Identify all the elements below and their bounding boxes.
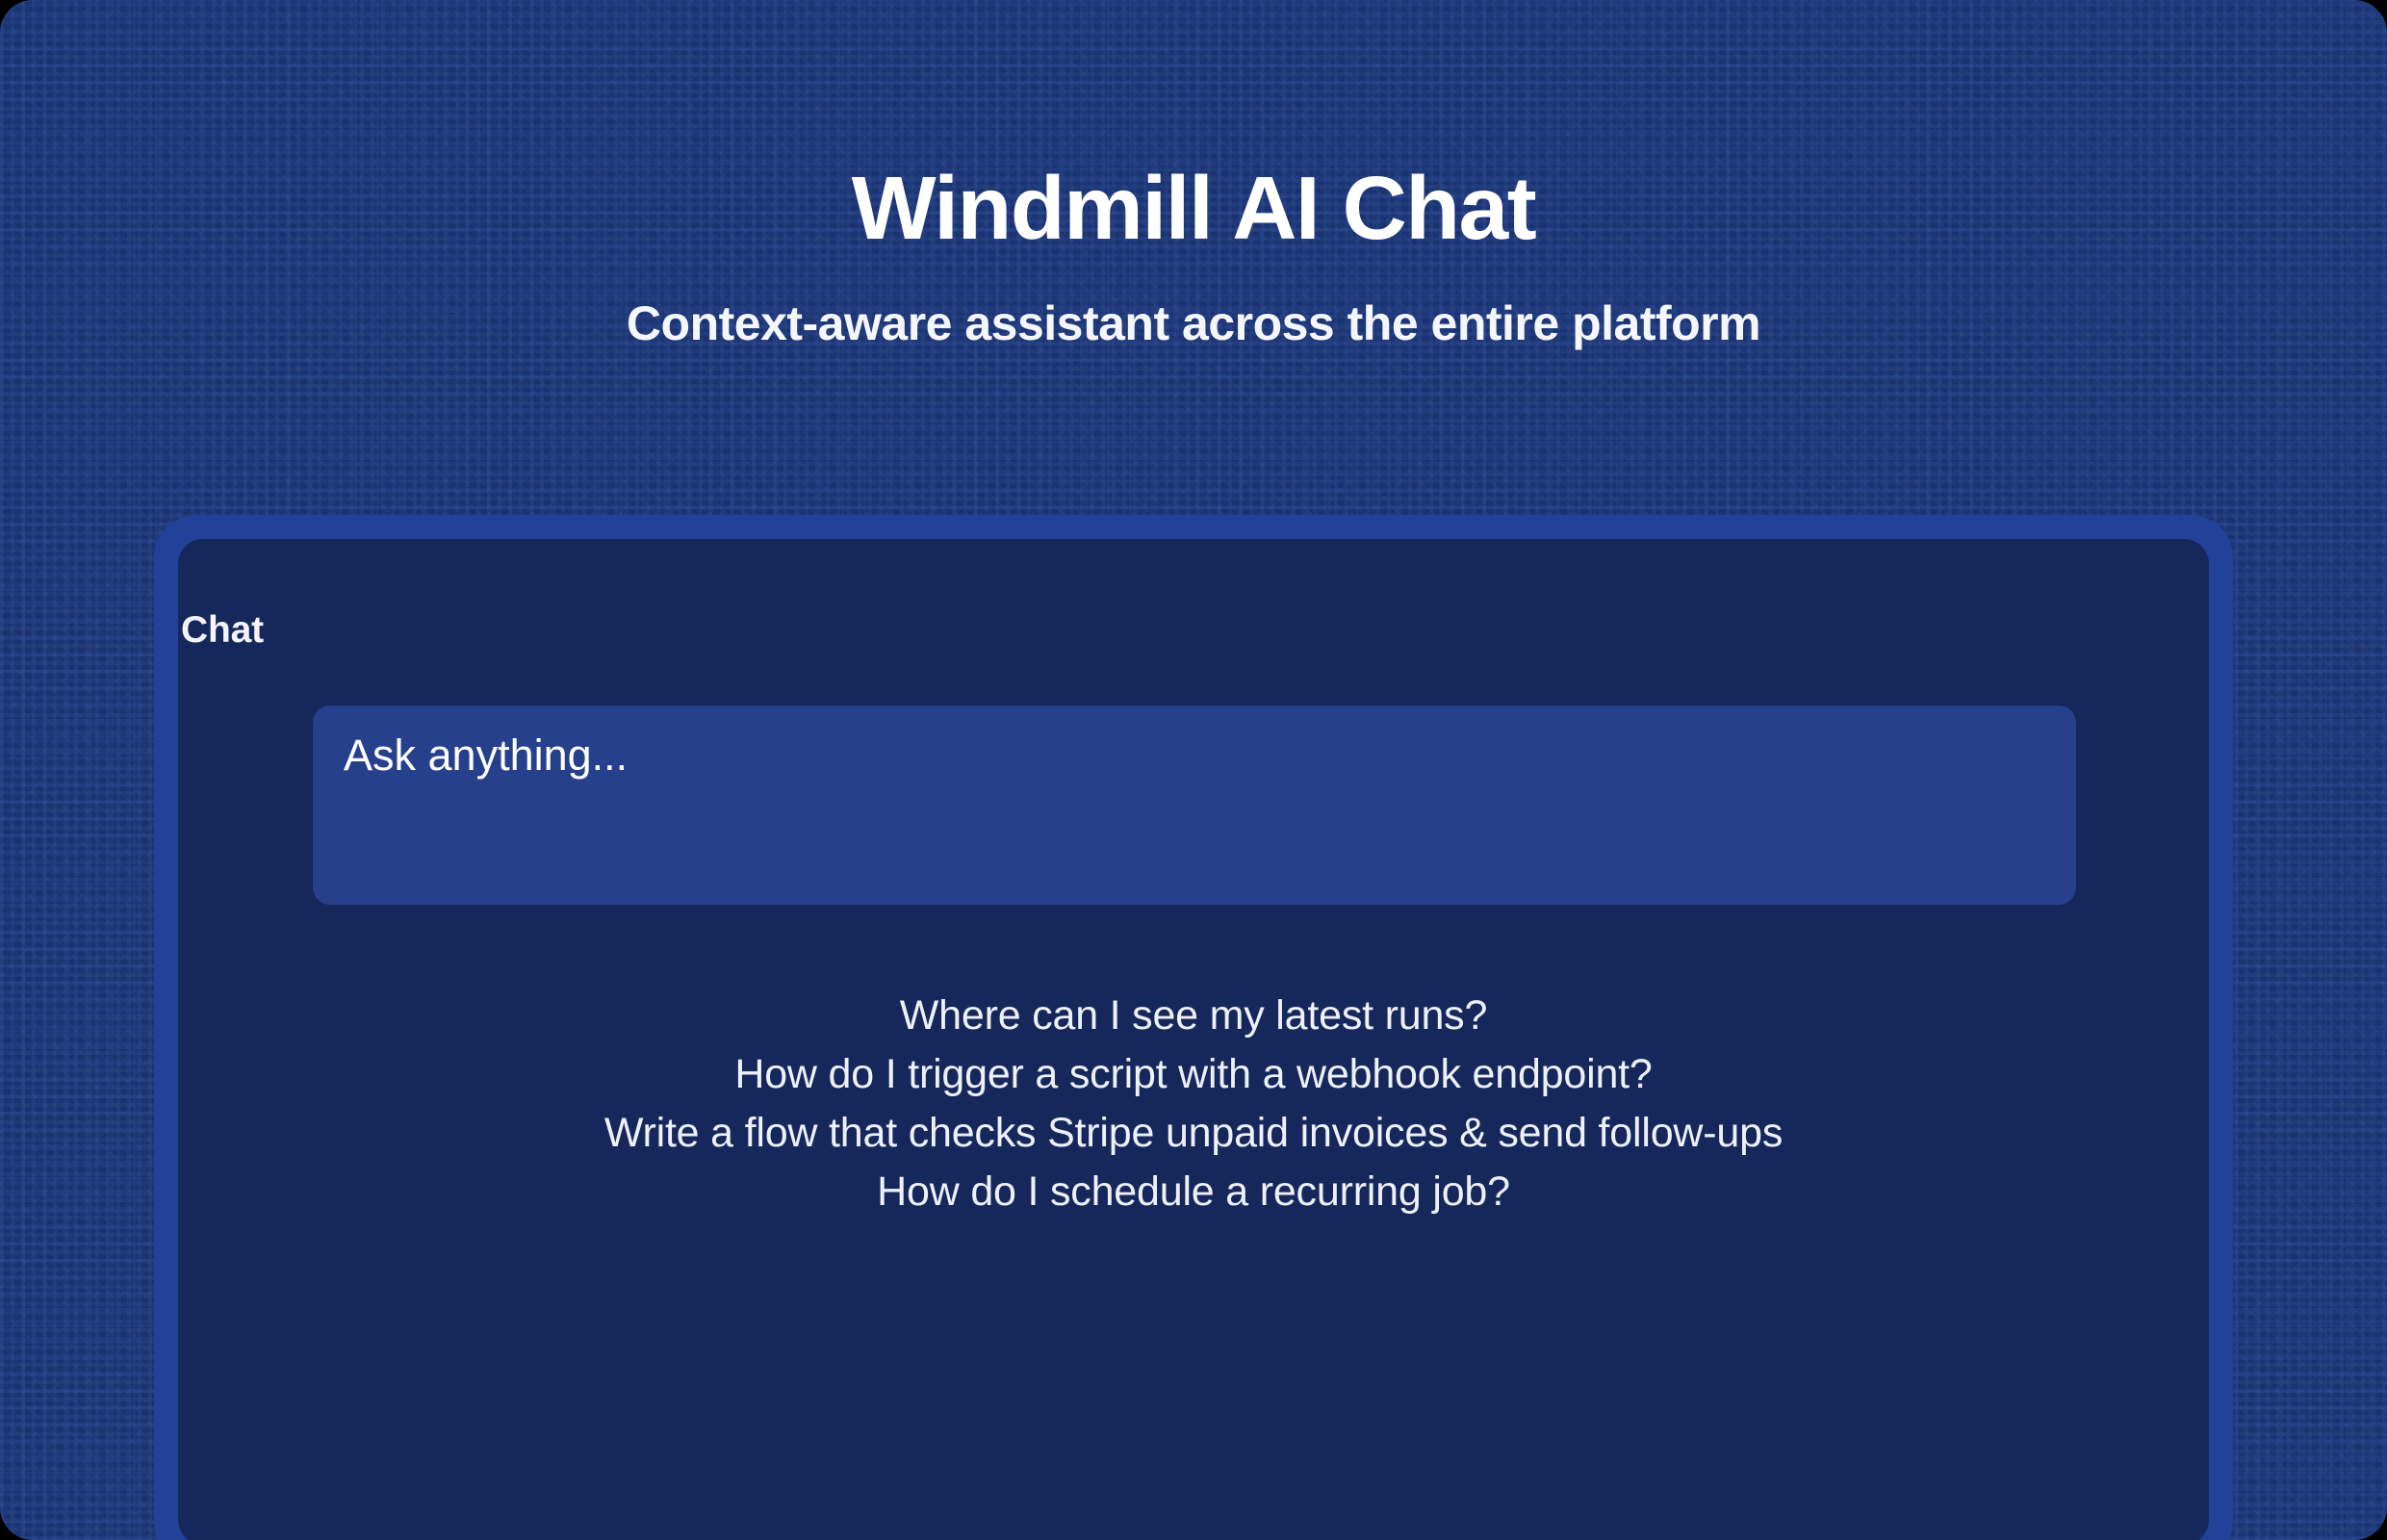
- suggestion-item[interactable]: How do I trigger a script with a webhook…: [178, 1045, 2209, 1104]
- page-title: Windmill AI Chat: [0, 0, 2387, 255]
- page-header: Windmill AI Chat Context-aware assistant…: [0, 0, 2387, 350]
- app-viewport: Windmill AI Chat Context-aware assistant…: [0, 0, 2387, 1540]
- suggestion-item[interactable]: Where can I see my latest runs?: [178, 987, 2209, 1045]
- page-subtitle: Context-aware assistant across the entir…: [0, 255, 2387, 350]
- suggestion-list: Where can I see my latest runs? How do I…: [178, 987, 2209, 1221]
- chat-section-label: Chat: [181, 609, 264, 652]
- suggestion-item[interactable]: How do I schedule a recurring job?: [178, 1163, 2209, 1221]
- chat-input[interactable]: [313, 706, 2076, 905]
- suggestion-item[interactable]: Write a flow that checks Stripe unpaid i…: [178, 1104, 2209, 1163]
